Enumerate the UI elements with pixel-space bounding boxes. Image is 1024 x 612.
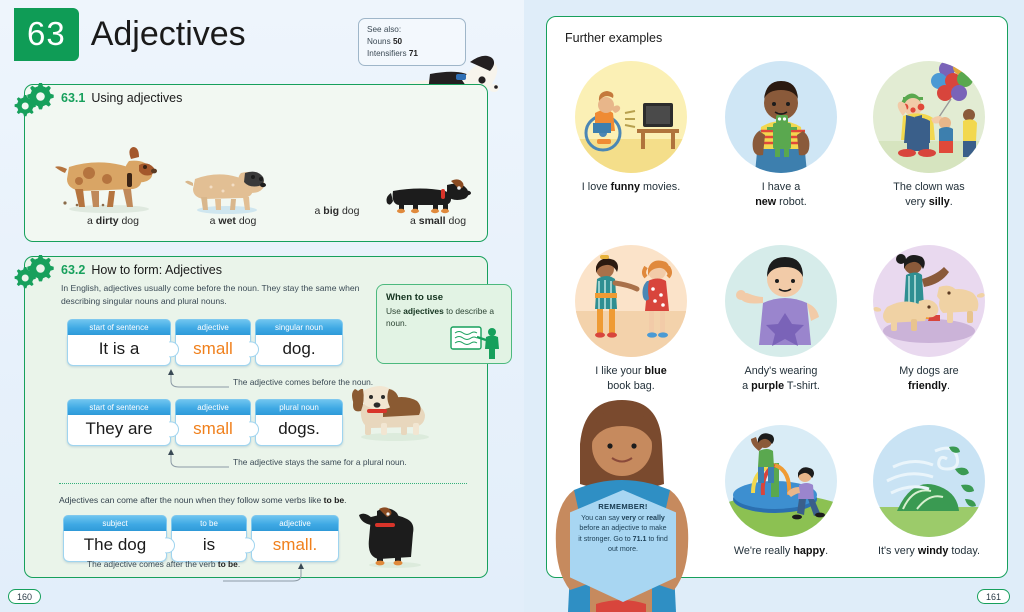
example-item: I love funny movies. [557, 61, 705, 195]
dachshund-standing-illustration [355, 507, 431, 569]
further-examples-title: Further examples [565, 31, 662, 45]
grammar-label: to be [171, 515, 247, 531]
dog-example-big: a big dog [287, 205, 387, 217]
grammar-note-2: The adjective stays the same for a plura… [233, 457, 407, 467]
section-63-1-panel: 63.1Using adjectives [24, 84, 488, 242]
grammar-value: small. [251, 531, 339, 562]
example-item: I have a new robot. [707, 61, 855, 209]
example-caption: The clown was very silly. [855, 180, 1003, 209]
example-illustration [873, 61, 985, 173]
grammar-note-3: The adjective comes after the verb to be… [87, 559, 240, 569]
grammar-cell-subject[interactable]: subject The dog [63, 515, 167, 562]
section-63-2-intro: In English, adjectives usually come befo… [61, 282, 361, 308]
grammar-label: adjective [175, 319, 251, 335]
example-illustration [725, 245, 837, 357]
example-item: The clown was very silly. [855, 61, 1003, 209]
example-illustration [873, 425, 985, 537]
grammar-value: is [171, 531, 247, 562]
remember-callout: REMEMBER! You can say very or really bef… [546, 398, 696, 612]
example-illustration [575, 61, 687, 173]
example-caption: Andy's wearing a purple T-shirt. [707, 364, 855, 393]
dirty-dog-illustration [53, 145, 165, 215]
girls-with-book-bag-icon [575, 245, 687, 357]
page-number-left: 160 [8, 589, 41, 604]
page-left: 63 Adjectives See also: Nouns 50 Intensi… [0, 0, 524, 612]
grammar-row-2: start of sentence They are adjective sma… [67, 399, 347, 446]
grammar-label: adjective [251, 515, 339, 531]
grammar-label: subject [63, 515, 167, 531]
wet-dog-illustration [183, 161, 271, 215]
dog-example-dirty: a dirty dog [53, 145, 173, 227]
after-noun-text: Adjectives can come after the noun when … [59, 495, 347, 505]
remember-text: You can say very or really before an adj… [578, 513, 668, 554]
example-illustration [725, 61, 837, 173]
grammar-row-3: subject The dog to be is adjective small… [63, 515, 343, 562]
dog-caption-dirty: a dirty dog [53, 215, 173, 227]
dog-caption-wet: a wet dog [183, 215, 283, 227]
beagle-dog-illustration [349, 375, 441, 443]
page-title: Adjectives [91, 15, 246, 54]
grammar-label: adjective [175, 399, 251, 415]
example-caption: I have a new robot. [707, 180, 855, 209]
callout-arrow-icon [165, 369, 235, 391]
dog-examples-row: a dirty dog [35, 117, 479, 235]
example-caption: My dogs are friendly. [855, 364, 1003, 393]
section-63-2-heading: 63.2How to form: Adjectives [61, 263, 222, 277]
when-to-use-title: When to use [386, 292, 502, 303]
grammar-value: It is a [67, 335, 171, 366]
boy-purple-tshirt-icon [725, 245, 837, 357]
girl-with-dogs-icon [873, 245, 985, 357]
example-caption: It's very windy today. [855, 544, 1003, 559]
teacher-whiteboard-icon [449, 325, 505, 361]
grammar-cell-to-be[interactable]: to be is [171, 515, 247, 562]
grammar-label: start of sentence [67, 319, 171, 335]
grammar-value: The dog [63, 531, 167, 562]
section-63-1-heading: 63.1Using adjectives [61, 91, 182, 105]
grammar-value: small [175, 415, 251, 446]
example-caption: We're really happy. [707, 544, 855, 559]
small-dachshund-illustration [383, 177, 475, 215]
section-divider [59, 483, 467, 484]
example-item: I like your blue book bag. [557, 245, 705, 393]
dog-caption-small: a small dog [383, 215, 493, 227]
clown-with-balloons-icon [873, 61, 985, 173]
grammar-value: They are [67, 415, 171, 446]
chapter-heading: 63 Adjectives [14, 8, 246, 61]
when-to-use-callout: When to use Use adjectives to describe a… [376, 284, 512, 364]
grammar-label: plural noun [255, 399, 343, 415]
grammar-cell-adjective[interactable]: adjective small [175, 399, 251, 446]
grammar-label: singular noun [255, 319, 343, 335]
children-on-roundabout-icon [725, 425, 837, 537]
boy-wheelchair-watching-tv-icon [575, 61, 687, 173]
dog-example-small: a small dog [383, 177, 493, 227]
grammar-value: dog. [255, 335, 343, 366]
remember-title: REMEMBER! [578, 502, 668, 511]
grammar-cell-singular-noun[interactable]: singular noun dog. [255, 319, 343, 366]
grammar-row-1: start of sentence It is a adjective smal… [67, 319, 347, 366]
example-item: Andy's wearing a purple T-shirt. [707, 245, 855, 393]
dog-example-wet: a wet dog [183, 161, 283, 227]
boy-holding-robot-icon [725, 61, 837, 173]
grammar-value: small [175, 335, 251, 366]
book-spread: 63 Adjectives See also: Nouns 50 Intensi… [0, 0, 1024, 612]
example-illustration [725, 425, 837, 537]
grammar-cell-adjective[interactable]: adjective small. [251, 515, 339, 562]
example-illustration [575, 245, 687, 357]
example-item: We're really happy. [707, 425, 855, 559]
example-caption: I like your blue book bag. [557, 364, 705, 393]
grammar-label: start of sentence [67, 399, 171, 415]
example-item: It's very windy today. [855, 425, 1003, 559]
callout-arrow-icon [165, 449, 235, 471]
gears-icon [13, 79, 59, 119]
gears-icon [13, 251, 59, 291]
grammar-cell-adjective[interactable]: adjective small [175, 319, 251, 366]
chapter-number-badge: 63 [14, 8, 79, 61]
windy-bush-icon [873, 425, 985, 537]
example-caption: I love funny movies. [557, 180, 705, 195]
example-item: My dogs are friendly. [855, 245, 1003, 393]
grammar-cell-start-of-sentence[interactable]: start of sentence It is a [67, 319, 171, 366]
page-number-right: 161 [977, 589, 1010, 604]
dog-caption-big: a big dog [287, 205, 387, 217]
grammar-cell-start-of-sentence[interactable]: start of sentence They are [67, 399, 171, 446]
example-illustration [873, 245, 985, 357]
grammar-cell-plural-noun[interactable]: plural noun dogs. [255, 399, 343, 446]
grammar-value: dogs. [255, 415, 343, 446]
